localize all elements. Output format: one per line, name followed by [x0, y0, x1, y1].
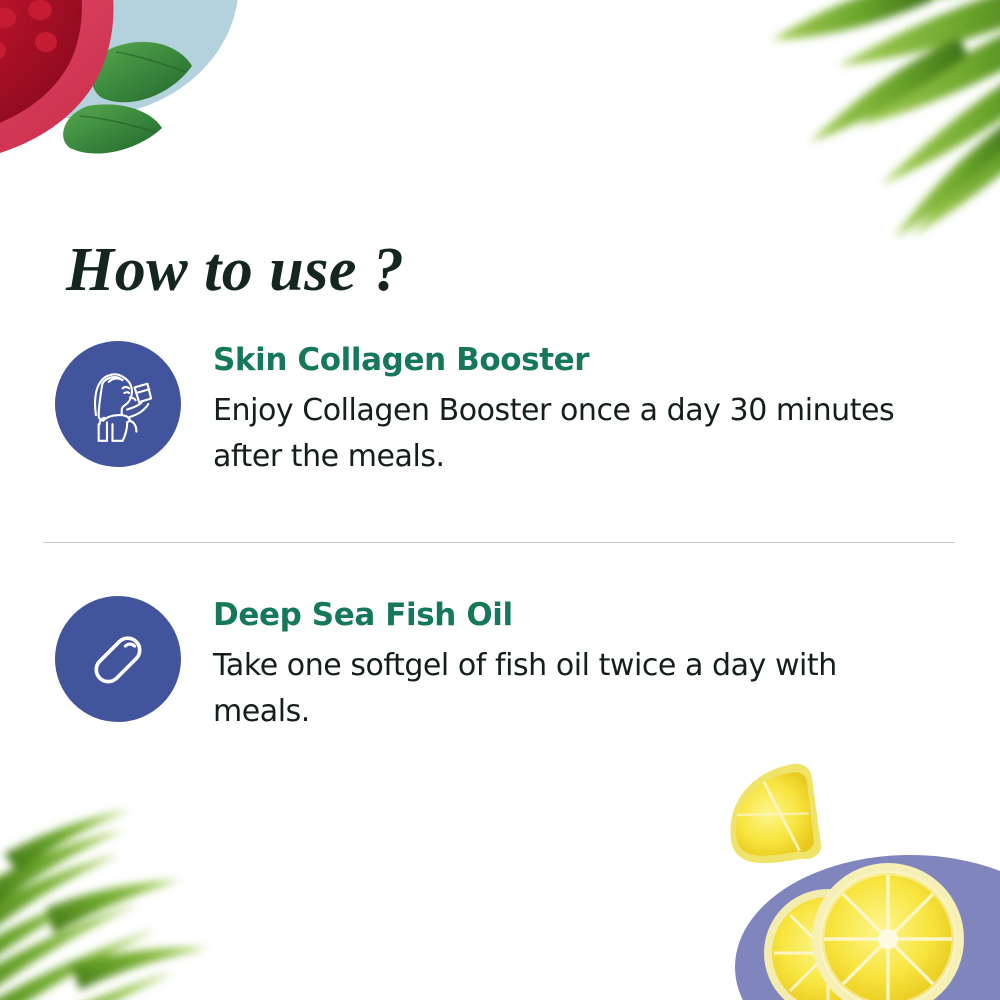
lemon-slice-back — [764, 889, 892, 1000]
lemon-bottom-right-decoration — [700, 755, 1000, 1000]
periwinkle-blob — [735, 855, 1000, 1000]
step-body: Take one softgel of fish oil twice a day… — [213, 643, 933, 736]
step-body: Enjoy Collagen Booster once a day 30 min… — [213, 388, 933, 481]
how-to-use-panel: How to use ? — [0, 0, 1000, 1000]
instruction-text-block: Skin Collagen Booster Enjoy Collagen Boo… — [213, 341, 953, 481]
lemon-wedge — [717, 760, 832, 876]
palm-frond-top-right — [772, 0, 1000, 238]
pomegranate-flesh — [0, 0, 82, 140]
palm-leaf-top-right-decoration — [710, 0, 1000, 240]
pomegranate-leaf-upper — [92, 42, 192, 102]
pomegranate-rind — [0, 0, 114, 166]
section-divider — [43, 542, 955, 543]
instruction-row-deep-sea-fish-oil: Deep Sea Fish Oil Take one softgel of fi… — [55, 596, 955, 736]
softgel-capsule-icon — [55, 596, 181, 722]
instruction-row-skin-collagen-booster: Skin Collagen Booster Enjoy Collagen Boo… — [55, 341, 955, 481]
pomegranate-top-left-decoration — [0, 0, 310, 240]
palm-leaf-bottom-left-decoration — [0, 780, 270, 1000]
lemon-slice-front — [812, 863, 964, 1000]
pomegranate-leaf-vein-2 — [80, 116, 156, 132]
step-title: Skin Collagen Booster — [213, 343, 953, 379]
pomegranate-seeds — [0, 0, 57, 133]
pomegranate-leaf-lower — [63, 104, 162, 153]
step-title: Deep Sea Fish Oil — [213, 598, 953, 634]
palm-frond-bottom-left — [0, 810, 208, 1000]
page-title: How to use ? — [66, 239, 404, 301]
pomegranate-leaf-vein-1 — [116, 52, 186, 72]
light-blue-blob — [0, 0, 240, 118]
woman-drinking-icon — [55, 341, 181, 467]
instruction-text-block: Deep Sea Fish Oil Take one softgel of fi… — [213, 596, 953, 736]
